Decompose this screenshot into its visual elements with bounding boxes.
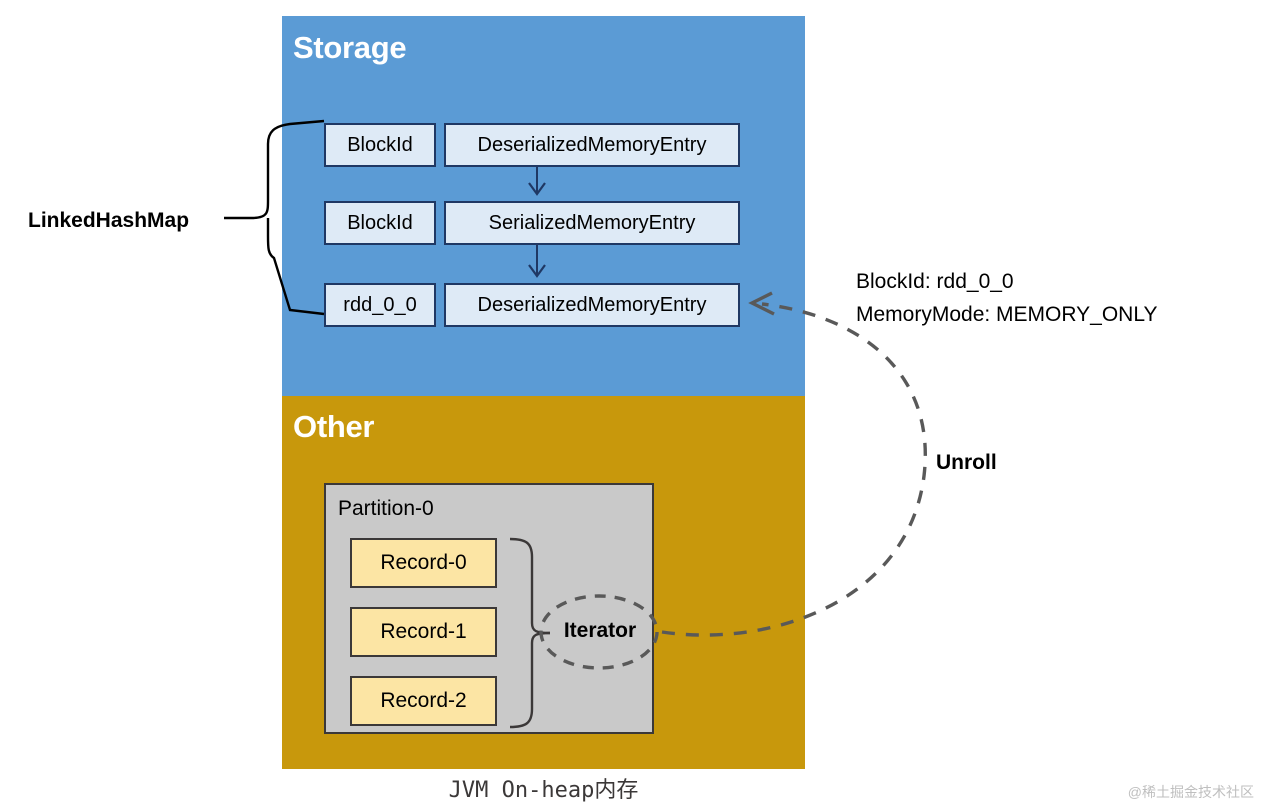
arrow-down-icon [527, 264, 547, 278]
record-box: Record-1 [350, 607, 497, 657]
map-key-cell: BlockId [324, 123, 436, 167]
map-value-cell: SerializedMemoryEntry [444, 201, 740, 245]
watermark: @稀土掘金技术社区 [1128, 782, 1254, 802]
unroll-label: Unroll [936, 451, 997, 475]
record-box: Record-2 [350, 676, 497, 726]
diagram-canvas: Storage BlockId DeserializedMemoryEntry … [0, 0, 1268, 812]
map-key-cell: BlockId [324, 201, 436, 245]
arrow-down-icon [527, 182, 547, 196]
map-value-cell: DeserializedMemoryEntry [444, 123, 740, 167]
partition-label: Partition-0 [338, 497, 434, 521]
iterator-label: Iterator [548, 619, 652, 643]
other-title: Other [293, 409, 374, 445]
storage-title: Storage [293, 30, 406, 66]
map-key-cell: rdd_0_0 [324, 283, 436, 327]
memorymode-annotation: MemoryMode: MEMORY_ONLY [856, 298, 1157, 331]
blockid-annotation: BlockId: rdd_0_0 [856, 265, 1014, 298]
unroll-flow-arrow [640, 280, 960, 660]
record-box: Record-0 [350, 538, 497, 588]
linkedhashmap-label: LinkedHashMap [28, 209, 189, 233]
linkedhashmap-brace-icon [216, 118, 326, 318]
diagram-caption: JVM On-heap内存 [282, 772, 805, 804]
